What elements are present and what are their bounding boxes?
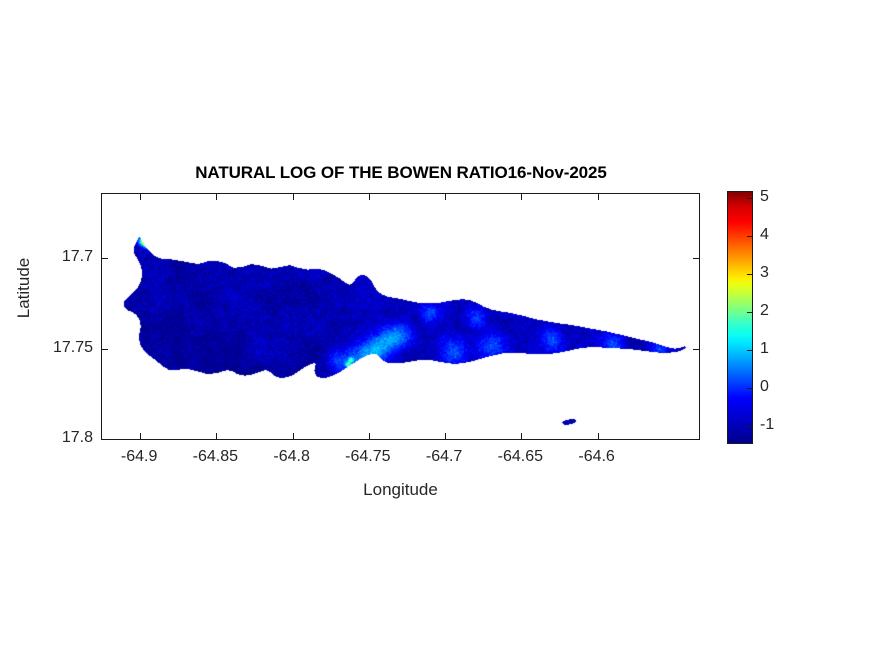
colorbar-gradient <box>728 192 752 443</box>
y-tick-mark <box>693 258 699 259</box>
x-tick-label: -64.7 <box>426 448 462 466</box>
x-tick-label: -64.8 <box>273 448 309 466</box>
colorbar-tick-mark <box>747 198 752 199</box>
colorbar-tick-label: 0 <box>760 378 769 396</box>
colorbar-tick-label: 5 <box>760 188 769 206</box>
figure-window: NATURAL LOG OF THE BOWEN RATIO16-Nov-202… <box>0 0 875 656</box>
x-tick-mark <box>216 194 217 200</box>
colorbar-tick-mark <box>747 236 752 237</box>
y-tick-label: 17.75 <box>9 339 93 357</box>
colorbar-tick-label: 2 <box>760 302 769 320</box>
x-tick-mark <box>369 194 370 200</box>
x-tick-mark <box>216 433 217 439</box>
x-tick-mark <box>369 433 370 439</box>
colorbar-tick-label: 1 <box>760 340 769 358</box>
colorbar-tick-mark <box>747 426 752 427</box>
x-tick-label: -64.75 <box>345 448 390 466</box>
colorbar[interactable] <box>727 191 753 444</box>
x-tick-label: -64.65 <box>498 448 543 466</box>
x-tick-mark <box>521 194 522 200</box>
x-tick-label: -64.6 <box>578 448 614 466</box>
x-axis-label: Longitude <box>101 480 700 500</box>
x-tick-label: -64.85 <box>193 448 238 466</box>
x-tick-mark <box>140 433 141 439</box>
x-tick-label: -64.9 <box>121 448 157 466</box>
map-axes[interactable] <box>101 193 700 440</box>
x-tick-mark <box>598 194 599 200</box>
y-tick-mark <box>102 258 108 259</box>
y-tick-mark <box>102 349 108 350</box>
colorbar-tick-mark <box>747 312 752 313</box>
x-tick-mark <box>140 194 141 200</box>
page-title: NATURAL LOG OF THE BOWEN RATIO16-Nov-202… <box>101 163 701 183</box>
colorbar-tick-label: -1 <box>760 416 774 434</box>
colorbar-tick-mark <box>747 274 752 275</box>
x-tick-mark <box>293 194 294 200</box>
x-tick-mark <box>521 433 522 439</box>
colorbar-tick-label: 4 <box>760 226 769 244</box>
y-tick-label: 17.8 <box>9 429 93 447</box>
y-axis-label: Latitude <box>14 238 34 338</box>
x-tick-mark <box>598 433 599 439</box>
colorbar-tick-label: 3 <box>760 264 769 282</box>
x-tick-mark <box>445 194 446 200</box>
bowen-ratio-heatmap <box>102 194 699 439</box>
x-tick-mark <box>293 433 294 439</box>
colorbar-tick-mark <box>747 388 752 389</box>
y-tick-mark <box>693 349 699 350</box>
x-tick-mark <box>445 433 446 439</box>
colorbar-tick-mark <box>747 350 752 351</box>
